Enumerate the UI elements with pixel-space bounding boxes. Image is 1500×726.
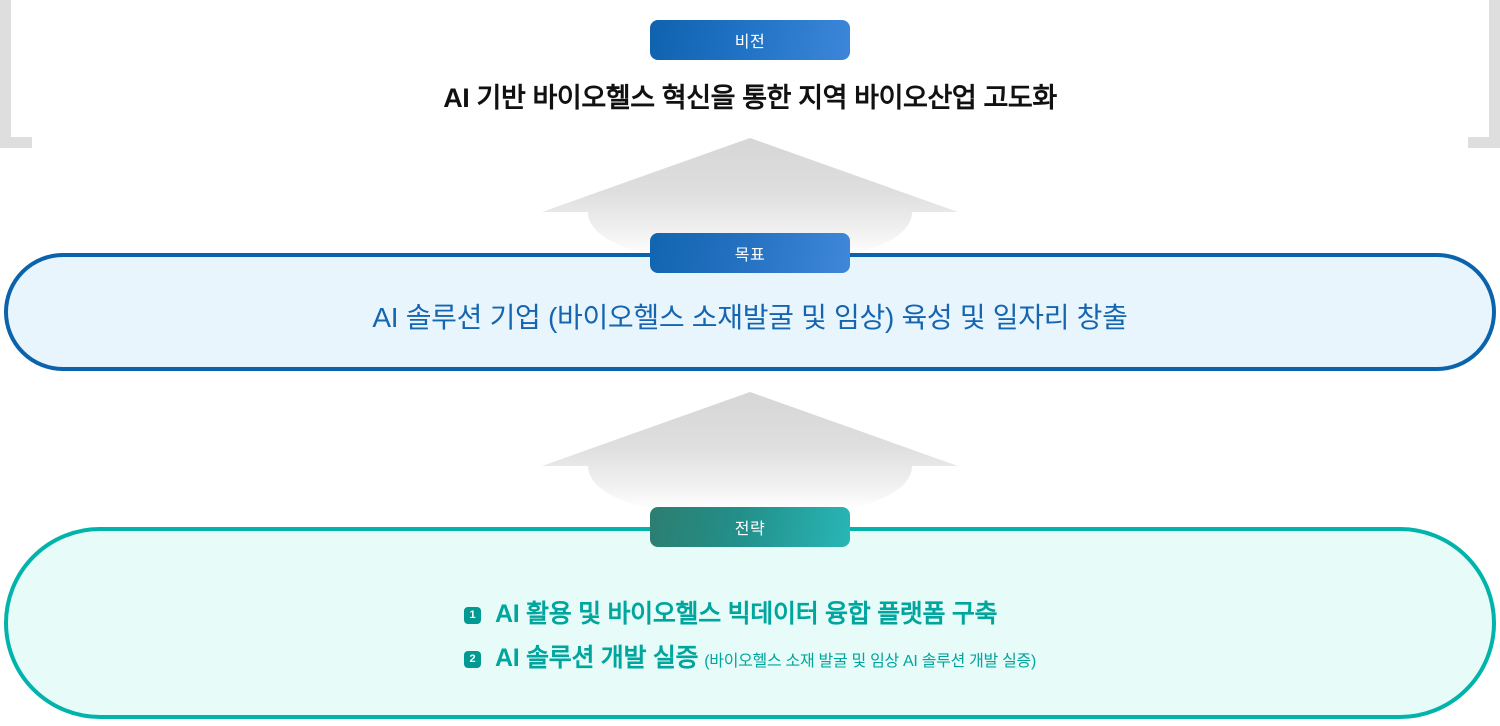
vision-title: AI 기반 바이오헬스 혁신을 통한 지역 바이오산업 고도화 xyxy=(0,76,1500,115)
strategy-badge: 전략 xyxy=(650,507,850,547)
strategy-item-2-subtext: (바이오헬스 소재 발굴 및 임상 AI 솔루션 개발 실증) xyxy=(704,653,1036,670)
diagram-canvas: 비전 AI 기반 바이오헬스 혁신을 통한 지역 바이오산업 고도화 AI 솔루… xyxy=(0,0,1500,726)
corner-bracket-left xyxy=(0,0,32,148)
bracket-right-vertical xyxy=(1489,0,1500,148)
vision-badge: 비전 xyxy=(650,20,850,60)
strategy-number-badge-1: 1 xyxy=(464,607,481,624)
bracket-left-vertical xyxy=(0,0,11,148)
corner-bracket-right xyxy=(1468,0,1500,148)
strategy-item-1-text: AI 활용 및 바이오헬스 빅데이터 융합 플랫폼 구축 xyxy=(495,594,997,630)
strategy-item-2-text: AI 솔루션 개발 실증 xyxy=(495,644,698,672)
goal-text: AI 솔루션 기업 (바이오헬스 소재발굴 및 임상) 육성 및 일자리 창출 xyxy=(332,296,1167,336)
arrow-strategy-to-goal-icon xyxy=(540,390,960,510)
strategy-list: 1 AI 활용 및 바이오헬스 빅데이터 융합 플랫폼 구축 2 AI 솔루션 … xyxy=(464,594,1036,674)
strategy-box: 1 AI 활용 및 바이오헬스 빅데이터 융합 플랫폼 구축 2 AI 솔루션 … xyxy=(4,527,1496,719)
goal-badge: 목표 xyxy=(650,233,850,273)
list-item: 2 AI 솔루션 개발 실증(바이오헬스 소재 발굴 및 임상 AI 솔루션 개… xyxy=(464,638,1036,674)
list-item: 1 AI 활용 및 바이오헬스 빅데이터 융합 플랫폼 구축 xyxy=(464,594,1036,630)
bracket-right-horizontal xyxy=(1468,137,1500,148)
strategy-number-badge-2: 2 xyxy=(464,651,481,668)
bracket-left-horizontal xyxy=(0,137,32,148)
strategy-item-2-wrapper: AI 솔루션 개발 실증(바이오헬스 소재 발굴 및 임상 AI 솔루션 개발 … xyxy=(495,638,1036,674)
